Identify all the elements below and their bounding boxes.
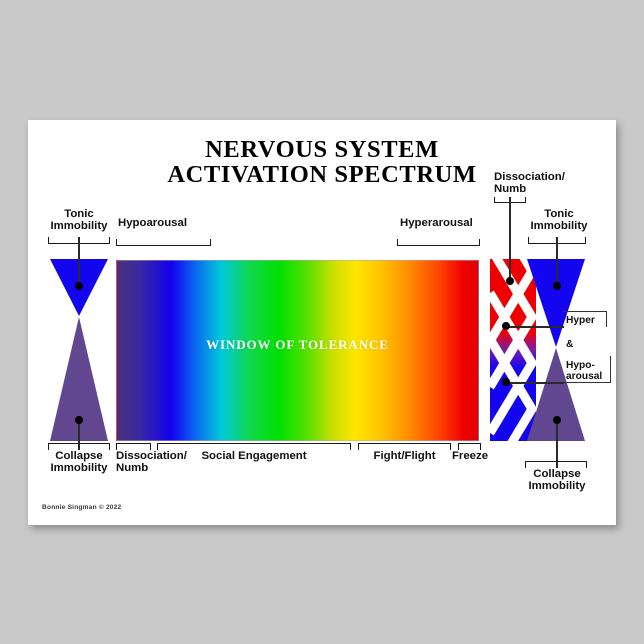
- copyright-notice: Bonnie Singman © 2022: [42, 504, 121, 511]
- pointer-dot-collapse-immobility-left: [75, 416, 83, 424]
- pointer-line-hypoarousal: [506, 382, 564, 384]
- pointer-dot-hyper: [502, 322, 510, 330]
- bracket-social-engagement: [157, 443, 351, 450]
- pointer-dot-hypoarousal: [502, 378, 510, 386]
- callout-box-hypoarousal: [562, 356, 611, 383]
- callout-box-hyper: [562, 311, 607, 327]
- label-freeze: Freeze: [449, 450, 491, 462]
- spectrum-bar: WINDOW OF TOLERANCE: [116, 260, 479, 441]
- pointer-dot-tonic-immobility-left: [75, 282, 83, 290]
- title-line-1: NERVOUS SYSTEM: [28, 137, 616, 162]
- bracket-collapse-immobility-right: [525, 461, 587, 468]
- bracket-freeze: [458, 443, 481, 450]
- pointer-stem-tonic-immobility-left: [78, 237, 80, 286]
- pointer-stem-dissociation-numb-right: [509, 197, 511, 281]
- label-hypoarousal: Hypoarousal: [118, 217, 187, 229]
- pointer-dot-dissociation-numb-right: [506, 277, 514, 285]
- callout-ampersand: &: [566, 339, 573, 350]
- window-of-tolerance-label: WINDOW OF TOLERANCE: [117, 337, 478, 353]
- pointer-dot-collapse-immobility-right: [553, 416, 561, 424]
- label-hyperarousal: Hyperarousal: [400, 217, 473, 229]
- bracket-fight-flight: [358, 443, 451, 450]
- bracket-hypoarousal: [116, 239, 211, 246]
- label-fight-flight: Fight/Flight: [356, 450, 453, 462]
- pointer-line-hyper: [506, 326, 564, 328]
- label-collapse-immobility-right: Collapse Immobility: [514, 468, 600, 493]
- label-social-engagement: Social Engagement: [157, 450, 351, 462]
- label-dissociation-numb-right: Dissociation/ Numb: [494, 171, 565, 196]
- bracket-hyperarousal: [397, 239, 480, 246]
- bracket-dissociation-numb-left: [116, 443, 151, 450]
- pointer-dot-tonic-immobility-right: [553, 282, 561, 290]
- poster: NERVOUS SYSTEM ACTIVATION SPECTRUM WINDO…: [28, 120, 616, 525]
- label-tonic-immobility-left: Tonic Immobility: [36, 208, 122, 233]
- label-tonic-immobility-right: Tonic Immobility: [516, 208, 602, 233]
- bracket-collapse-immobility-left: [48, 443, 110, 450]
- pointer-stem-tonic-immobility-right: [556, 237, 558, 286]
- label-collapse-immobility-left: Collapse Immobility: [36, 450, 122, 475]
